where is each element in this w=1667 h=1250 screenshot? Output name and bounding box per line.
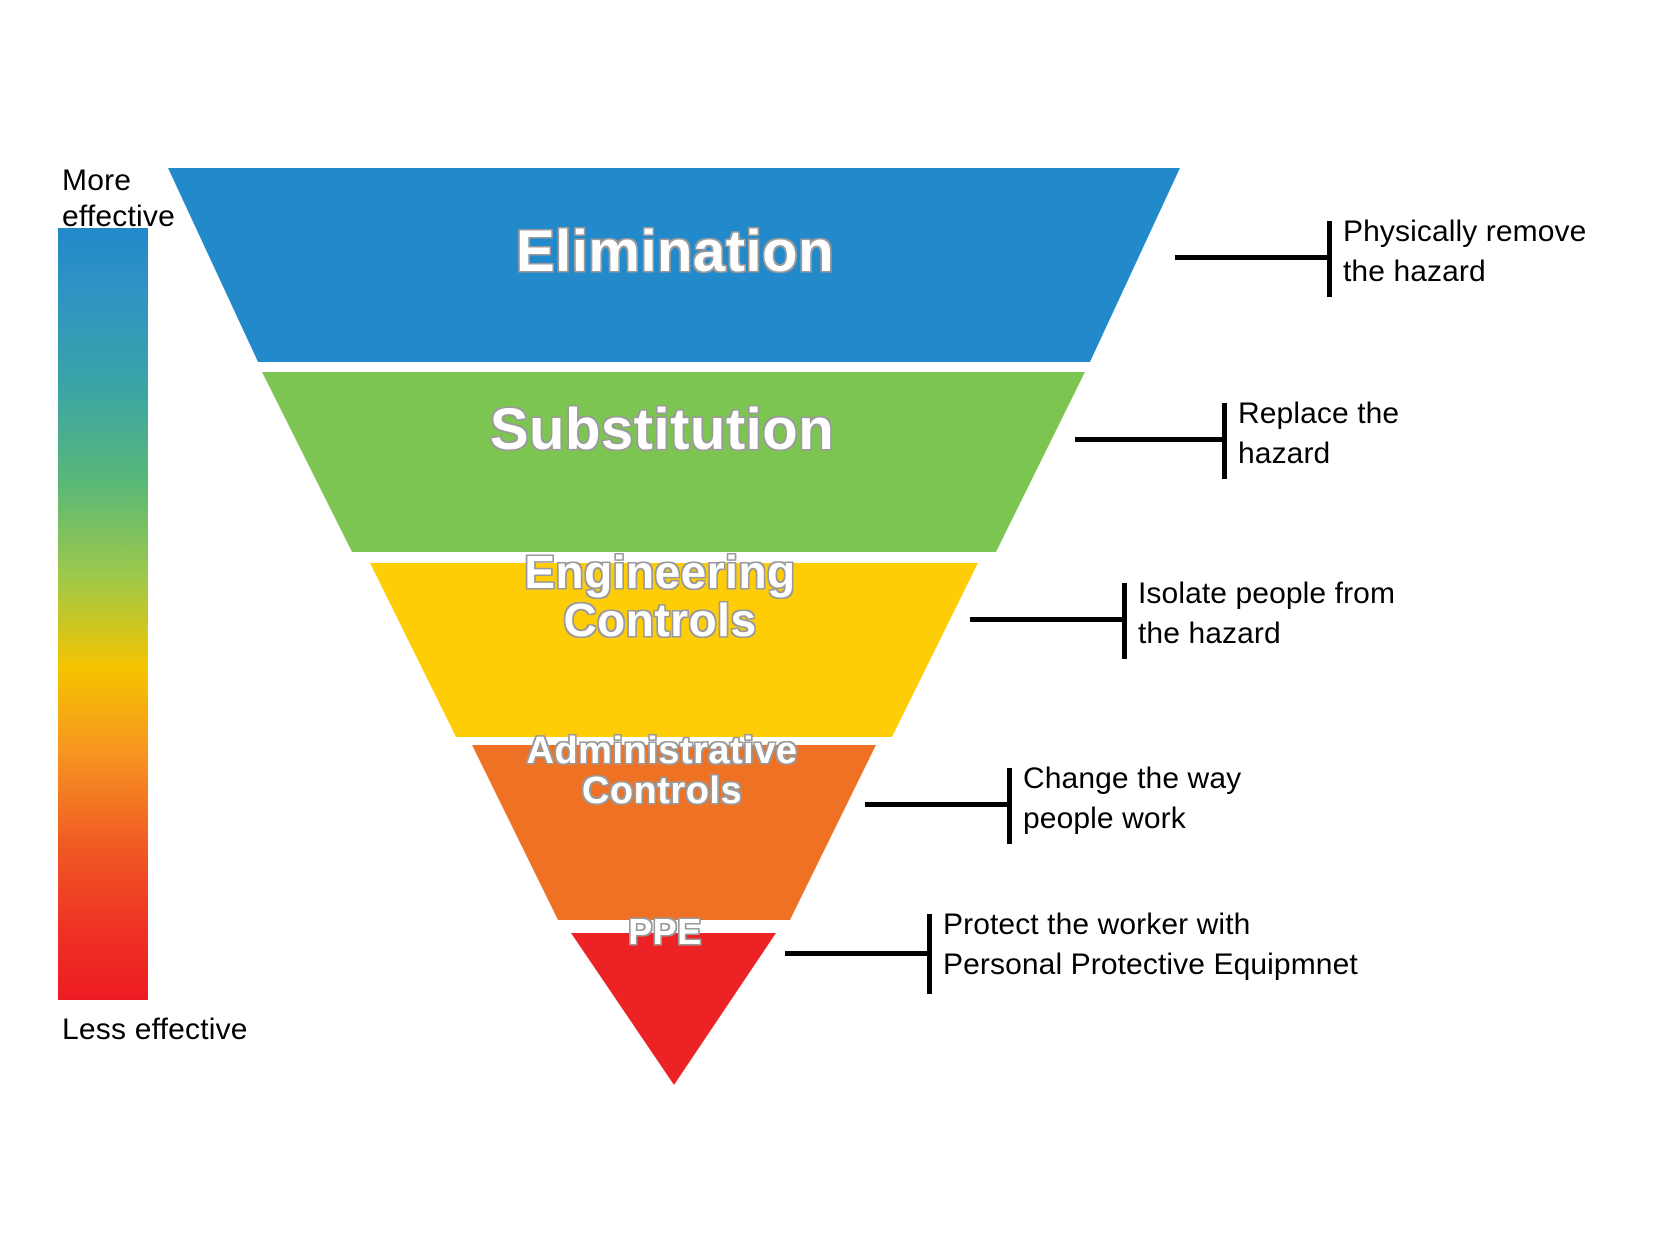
callout-text-engineering-controls: Isolate people fromthe hazard <box>1138 574 1498 654</box>
callout-bracket <box>1222 403 1227 479</box>
hierarchy-of-controls-diagram: More effective Less effective Eliminatio… <box>0 0 1667 1250</box>
callout-bracket <box>1327 221 1332 297</box>
band-substitution[interactable] <box>262 372 1085 552</box>
callout-line1: Physically remove <box>1343 215 1586 248</box>
callout-line2: the hazard <box>1343 255 1486 288</box>
callout-bracket <box>1122 583 1127 659</box>
callout-text-substitution: Replace thehazard <box>1238 394 1568 474</box>
callout-line1: Change the way <box>1023 762 1241 795</box>
callout-line1: Protect the worker with <box>943 908 1250 941</box>
callout-text-elimination: Physically removethe hazard <box>1343 212 1667 292</box>
callout-line1: Replace the <box>1238 397 1399 430</box>
callout-bracket <box>1007 768 1012 844</box>
callout-line2: the hazard <box>1138 617 1281 650</box>
callout-leader-line <box>785 951 930 956</box>
callout-text-administrative-controls: Change the waypeople work <box>1023 759 1353 839</box>
callout-bracket <box>927 914 932 994</box>
callout-line1: Isolate people from <box>1138 577 1395 610</box>
band-administrative-controls[interactable] <box>472 745 876 920</box>
callout-leader-line <box>970 617 1125 622</box>
callout-line2: people work <box>1023 802 1186 835</box>
callout-leader-line <box>865 802 1010 807</box>
callout-text-ppe: Protect the worker withPersonal Protecti… <box>943 905 1373 985</box>
callout-leader-line <box>1175 255 1330 260</box>
callout-line2: Personal Protective Equipmnet <box>943 948 1358 981</box>
band-ppe[interactable] <box>571 933 776 1085</box>
callout-leader-line <box>1075 437 1225 442</box>
callout-line2: hazard <box>1238 437 1330 470</box>
band-elimination[interactable] <box>168 168 1180 362</box>
band-engineering-controls[interactable] <box>370 563 978 737</box>
